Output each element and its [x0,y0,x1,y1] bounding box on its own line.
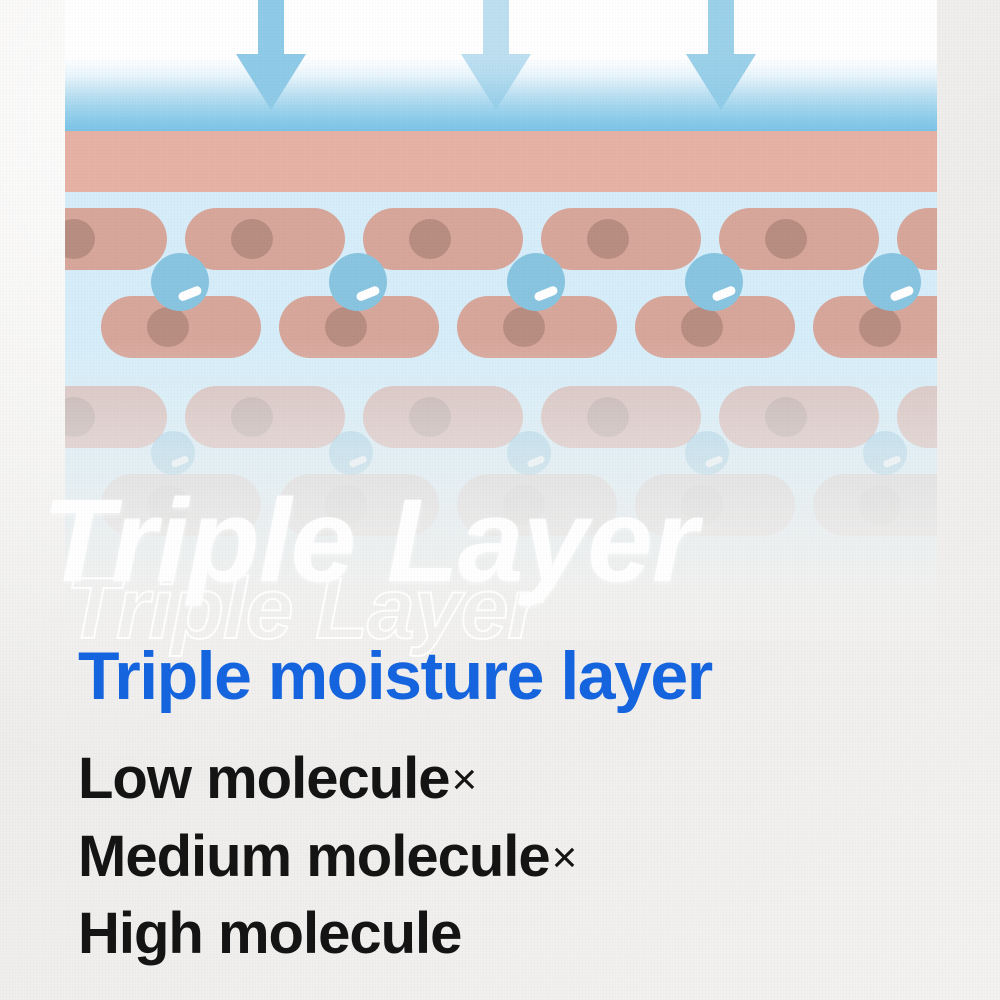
molecule-label: Medium molecule [78,824,550,889]
molecule-list: Low molecule× Medium molecule× High mole… [78,740,576,973]
droplet-highlight [883,455,903,468]
droplet-highlight [349,455,369,468]
water-droplet [151,431,195,475]
water-droplet [329,431,373,475]
multiply-symbol: × [552,833,577,882]
droplet-highlight [527,455,547,468]
multiply-symbol: × [452,755,477,804]
list-item: High molecule [78,895,576,973]
water-droplet [685,431,729,475]
droplet-highlight [705,455,725,468]
molecule-label: Low molecule [78,746,450,811]
water-droplet [507,431,551,475]
water-droplet [863,431,907,475]
list-item: Medium molecule× [78,818,576,896]
page-title: Triple moisture layer [78,640,712,713]
molecule-label: High molecule [78,901,461,966]
list-item: Low molecule× [78,740,576,818]
page-canvas: Triple Layer Triple Layer Triple moistur… [0,0,1000,1000]
droplet-highlight [171,455,191,468]
